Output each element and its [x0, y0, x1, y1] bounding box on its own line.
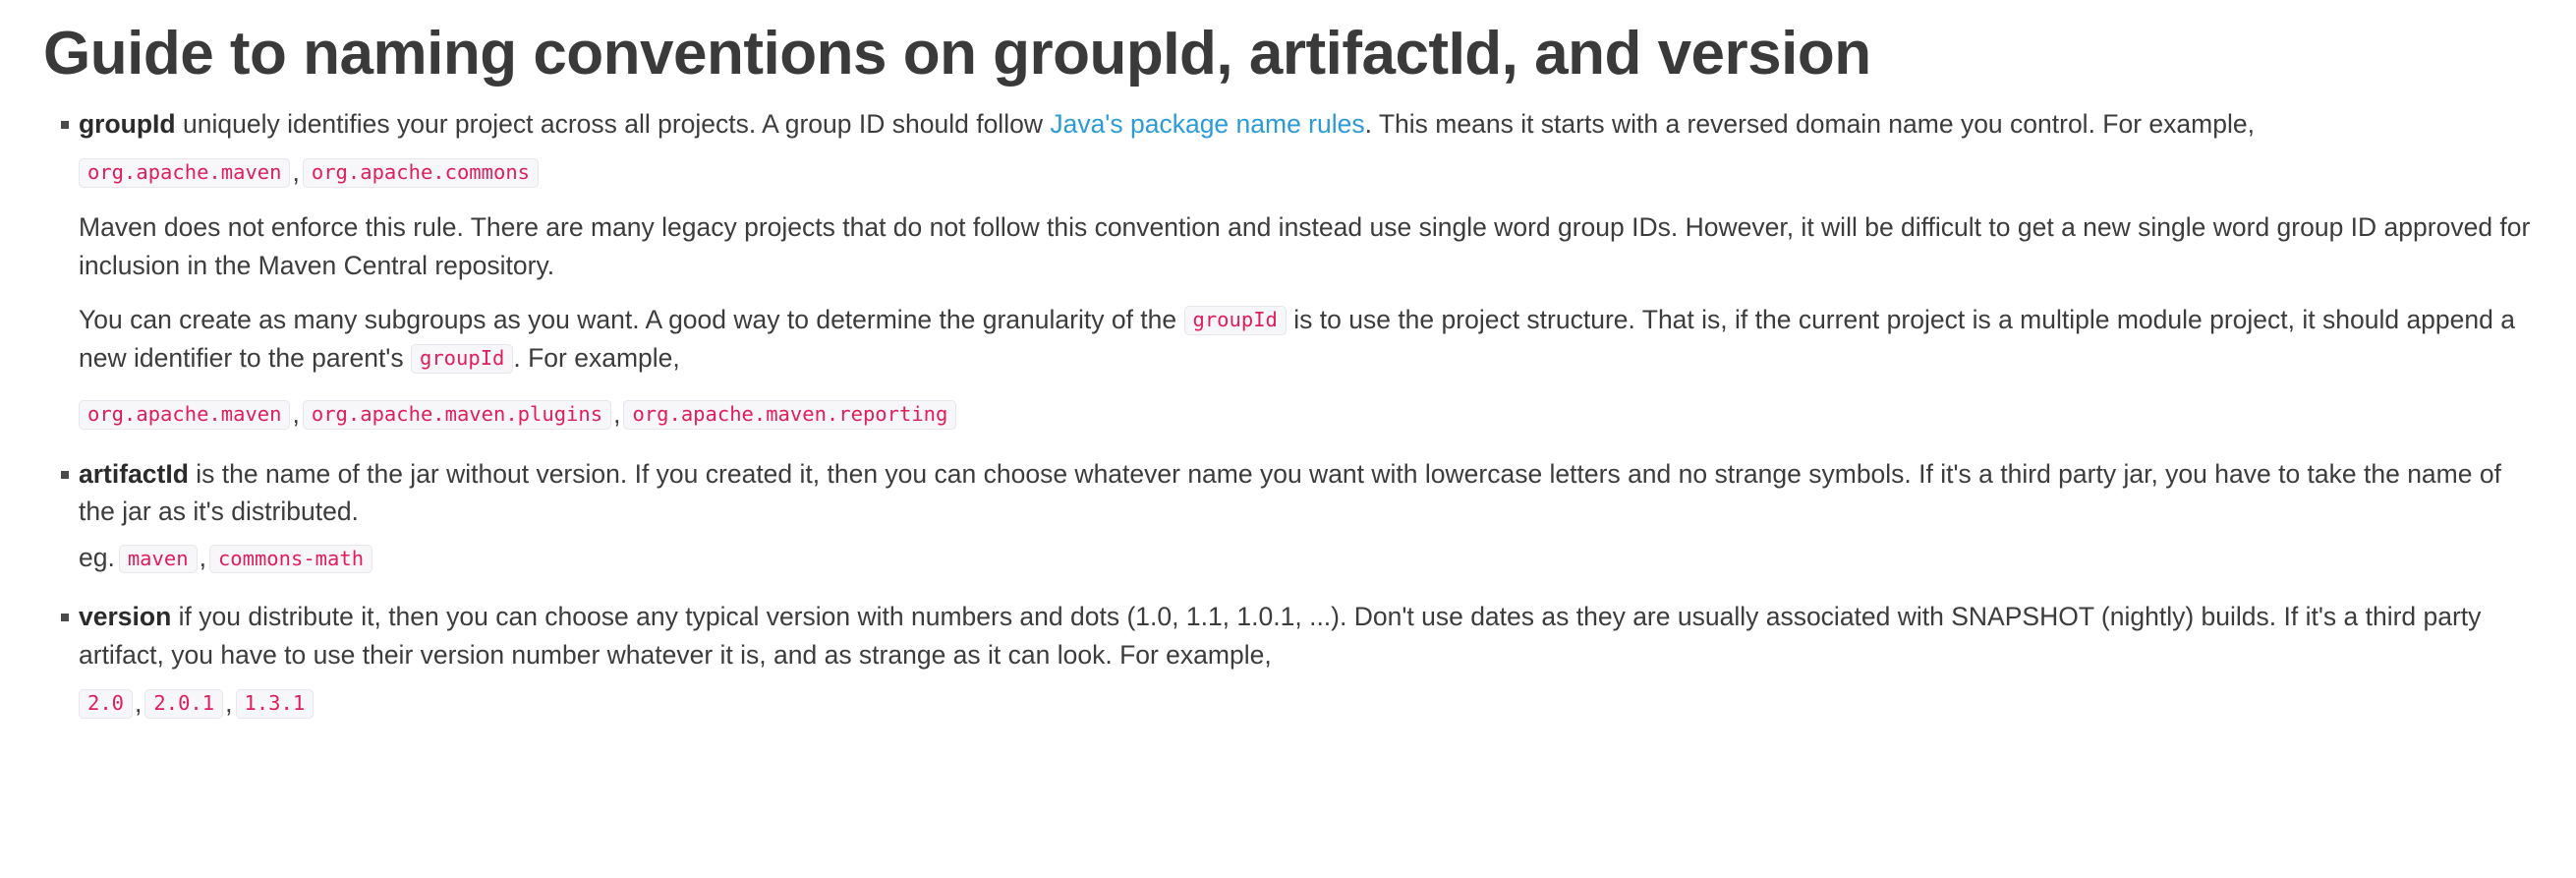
chip-separator: , — [290, 157, 302, 187]
groupid-paragraph-3: You can create as many subgroups as you … — [79, 301, 2537, 378]
version-examples-row: 2.0,2.0.1,1.3.1 — [79, 682, 2537, 724]
code-chip: 1.3.1 — [236, 689, 315, 719]
term-groupid: groupId — [79, 109, 176, 139]
artifactid-paragraph: artifactId is the name of the jar withou… — [79, 455, 2537, 532]
groupid-p3-part-1: You can create as many subgroups as you … — [79, 305, 1184, 334]
artifactid-text: is the name of the jar without version. … — [79, 459, 2501, 527]
code-chip: org.apache.commons — [303, 158, 539, 188]
groupid-examples-row-1: org.apache.maven,org.apache.commons — [79, 151, 2537, 193]
artifactid-examples-row: eg.maven,commons-math — [79, 539, 2537, 578]
version-paragraph: version if you distribute it, then you c… — [79, 598, 2537, 674]
chip-separator: , — [198, 543, 209, 572]
document-page: Guide to naming conventions on groupId, … — [0, 22, 2576, 724]
code-chip: commons-math — [209, 545, 372, 574]
code-chip: 2.0 — [79, 689, 133, 719]
code-chip: groupId — [411, 344, 513, 374]
java-package-name-rules-link[interactable]: Java's package name rules — [1050, 109, 1364, 139]
list-item-version: version if you distribute it, then you c… — [43, 598, 2537, 724]
eg-label: eg. — [79, 543, 115, 572]
groupid-paragraph-2: Maven does not enforce this rule. There … — [79, 208, 2537, 285]
term-version: version — [79, 602, 171, 631]
groupid-intro-after-link: . This means it starts with a reversed d… — [1365, 109, 2255, 139]
chip-separator: , — [611, 399, 623, 429]
code-chip: org.apache.maven.reporting — [623, 400, 956, 430]
page-title: Guide to naming conventions on groupId, … — [43, 22, 2537, 88]
bullet-square-icon — [61, 614, 69, 621]
code-chip: 2.0.1 — [144, 689, 223, 719]
bullet-square-icon — [61, 471, 69, 479]
code-chip: org.apache.maven — [79, 158, 290, 188]
chip-separator: , — [223, 688, 235, 718]
term-artifactid: artifactId — [79, 459, 189, 489]
version-text: if you distribute it, then you can choos… — [79, 602, 2481, 670]
list-item-groupid: groupId uniquely identifies your project… — [43, 105, 2537, 436]
groupid-p3-part-3: . For example, — [513, 343, 679, 373]
bullet-square-icon — [61, 121, 69, 129]
chip-separator: , — [133, 688, 144, 718]
naming-conventions-list: groupId uniquely identifies your project… — [43, 105, 2537, 725]
groupid-intro-before-link: uniquely identifies your project across … — [176, 109, 1051, 139]
code-chip: org.apache.maven — [79, 400, 290, 430]
groupid-intro-paragraph: groupId uniquely identifies your project… — [79, 105, 2537, 144]
code-chip: org.apache.maven.plugins — [303, 400, 611, 430]
groupid-examples-row-2: org.apache.maven,org.apache.maven.plugin… — [79, 393, 2537, 435]
code-chip: maven — [119, 545, 198, 574]
chip-separator: , — [290, 399, 302, 429]
list-item-artifactid: artifactId is the name of the jar withou… — [43, 455, 2537, 579]
code-chip: groupId — [1184, 306, 1287, 335]
